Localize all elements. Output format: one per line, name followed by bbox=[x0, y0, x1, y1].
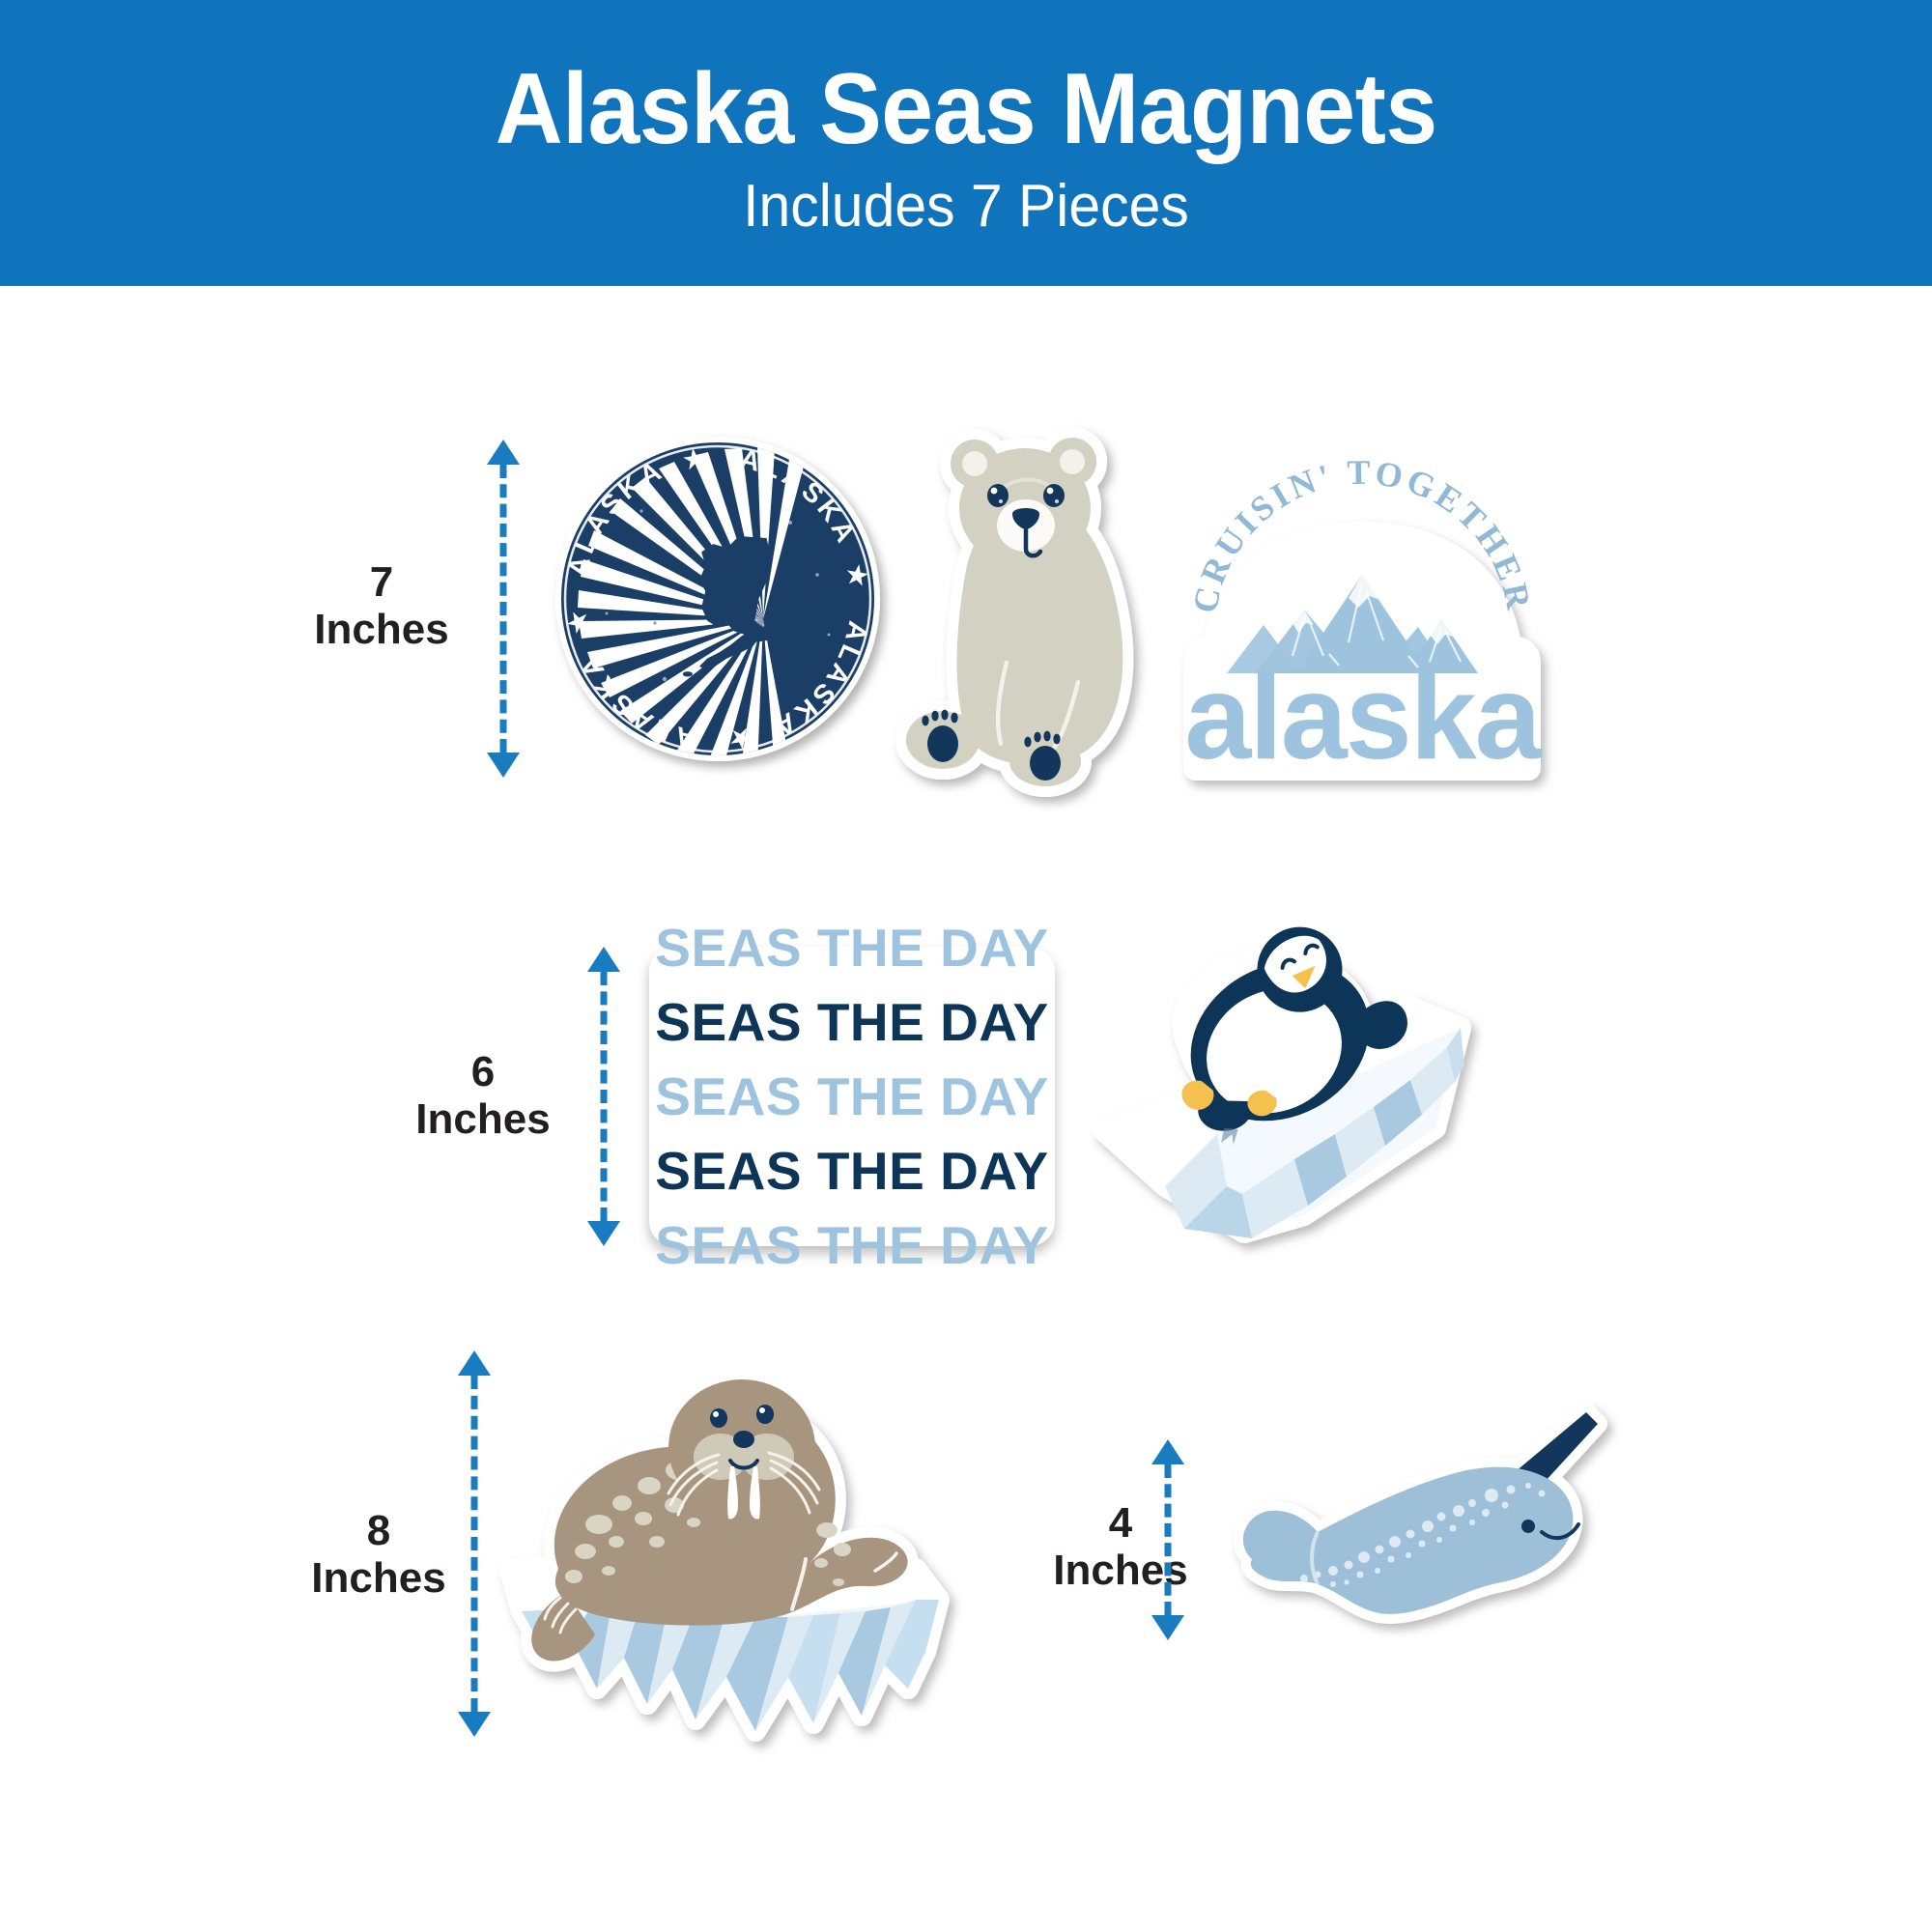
arrow-shaft bbox=[601, 972, 608, 1221]
arrow-head-down-icon bbox=[458, 1712, 491, 1737]
arrow-head-up-icon bbox=[587, 947, 620, 972]
arrow-shaft bbox=[500, 465, 507, 753]
dimension-label-4-inches: 4 Inches bbox=[1024, 1499, 1217, 1595]
sticker-walrus-on-iceberg bbox=[502, 1333, 976, 1748]
seas-the-day-line-4: SEAS THE DAY bbox=[655, 1134, 1048, 1208]
dimension-arrow-4-inches bbox=[1155, 1439, 1180, 1640]
seas-the-day-line-2: SEAS THE DAY bbox=[655, 985, 1048, 1060]
sticker-seas-the-day-card: SEAS THE DAY SEAS THE DAY SEAS THE DAY S… bbox=[649, 947, 1055, 1246]
dimension-label-6-inches: 6 Inches bbox=[386, 1048, 580, 1144]
sticker-alaska-sunburst-badge: ALASKA ALASKA ALASKA ALASKA ★ ★ ★ ★ bbox=[549, 430, 887, 768]
svg-text:alaska: alaska bbox=[1184, 651, 1542, 784]
arrow-head-up-icon bbox=[1151, 1439, 1184, 1464]
sticker-narwhal bbox=[1209, 1412, 1615, 1673]
product-infographic: Alaska Seas Magnets Includes 7 Pieces 7 … bbox=[0, 0, 1932, 1932]
dimension-label-8-inches: 8 Inches bbox=[282, 1507, 475, 1603]
header-banner: Alaska Seas Magnets Includes 7 Pieces bbox=[0, 0, 1932, 286]
dimension-arrow-6-inches bbox=[591, 947, 616, 1246]
arrow-head-down-icon bbox=[587, 1221, 620, 1246]
dimension-label-7-inches: 7 Inches bbox=[290, 558, 473, 654]
arrow-head-up-icon bbox=[458, 1350, 491, 1376]
seas-the-day-line-5: SEAS THE DAY bbox=[655, 1208, 1048, 1283]
seas-the-day-line-3: SEAS THE DAY bbox=[655, 1060, 1048, 1134]
page-title: Alaska Seas Magnets bbox=[496, 59, 1437, 159]
sticker-cruisin-together-alaska: CRUISIN' TOGETHER bbox=[1159, 420, 1565, 787]
sticker-penguin-on-iceberg bbox=[1072, 927, 1478, 1265]
arrow-head-up-icon bbox=[487, 440, 520, 465]
arrow-shaft bbox=[471, 1376, 478, 1712]
seas-the-day-line-1: SEAS THE DAY bbox=[655, 911, 1048, 985]
dimension-arrow-8-inches bbox=[462, 1350, 487, 1737]
arrow-shaft bbox=[1165, 1464, 1172, 1615]
arrow-head-down-icon bbox=[1151, 1615, 1184, 1640]
dimension-arrow-7-inches bbox=[491, 440, 516, 778]
page-subtitle: Includes 7 Pieces bbox=[743, 177, 1189, 237]
arrow-head-down-icon bbox=[487, 753, 520, 778]
sticker-polar-bear bbox=[898, 425, 1159, 782]
